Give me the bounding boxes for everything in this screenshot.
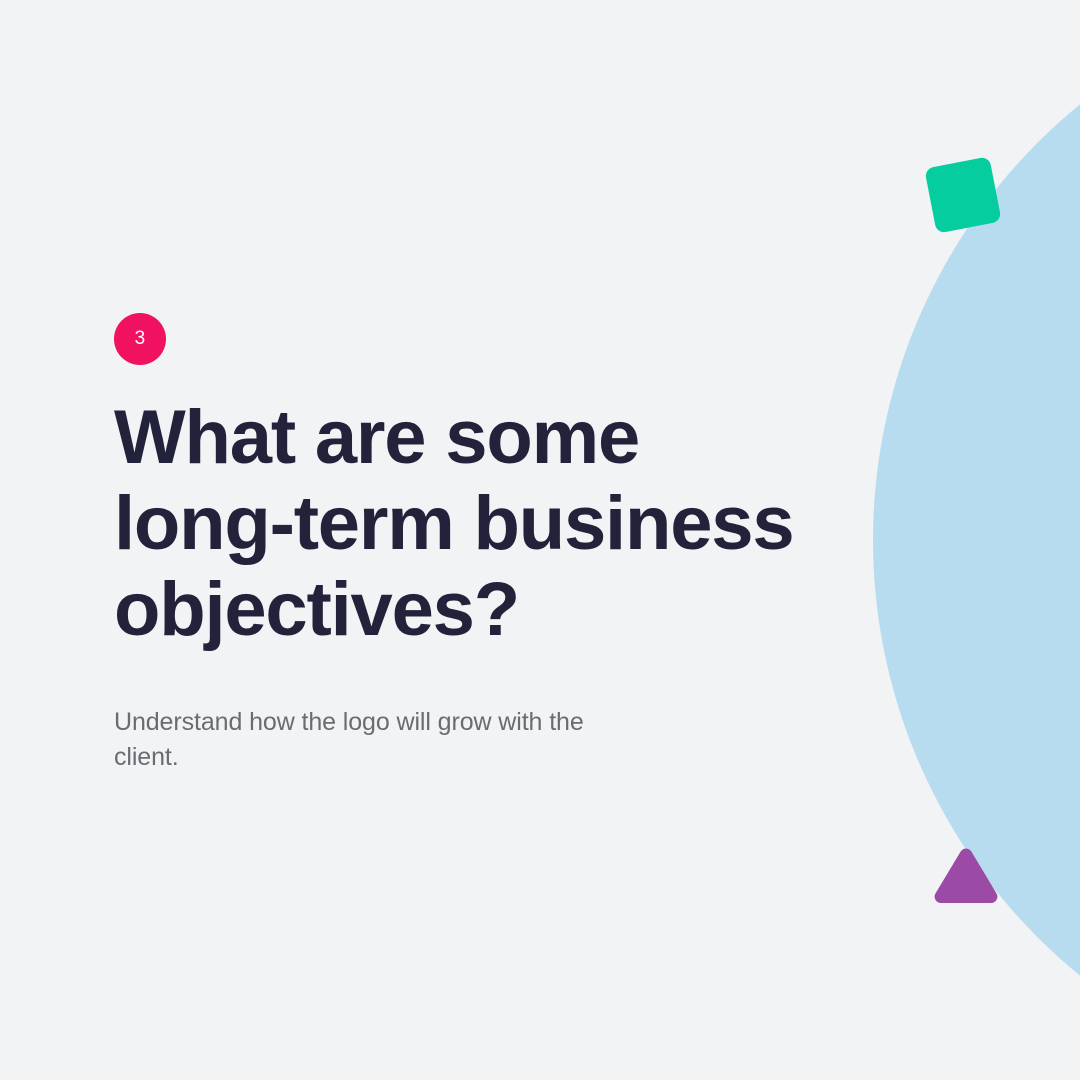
step-number-badge: 3 xyxy=(114,313,166,365)
page-subtitle: Understand how the logo will grow with t… xyxy=(114,705,644,775)
slide-canvas: 3 What are some long-term business objec… xyxy=(0,0,1080,1080)
page-title: What are some long-term business objecti… xyxy=(114,395,834,653)
purple-triangle-decoration xyxy=(932,846,1000,904)
teal-rounded-square-decoration xyxy=(924,156,1001,233)
content-column: 3 What are some long-term business objec… xyxy=(114,313,854,775)
